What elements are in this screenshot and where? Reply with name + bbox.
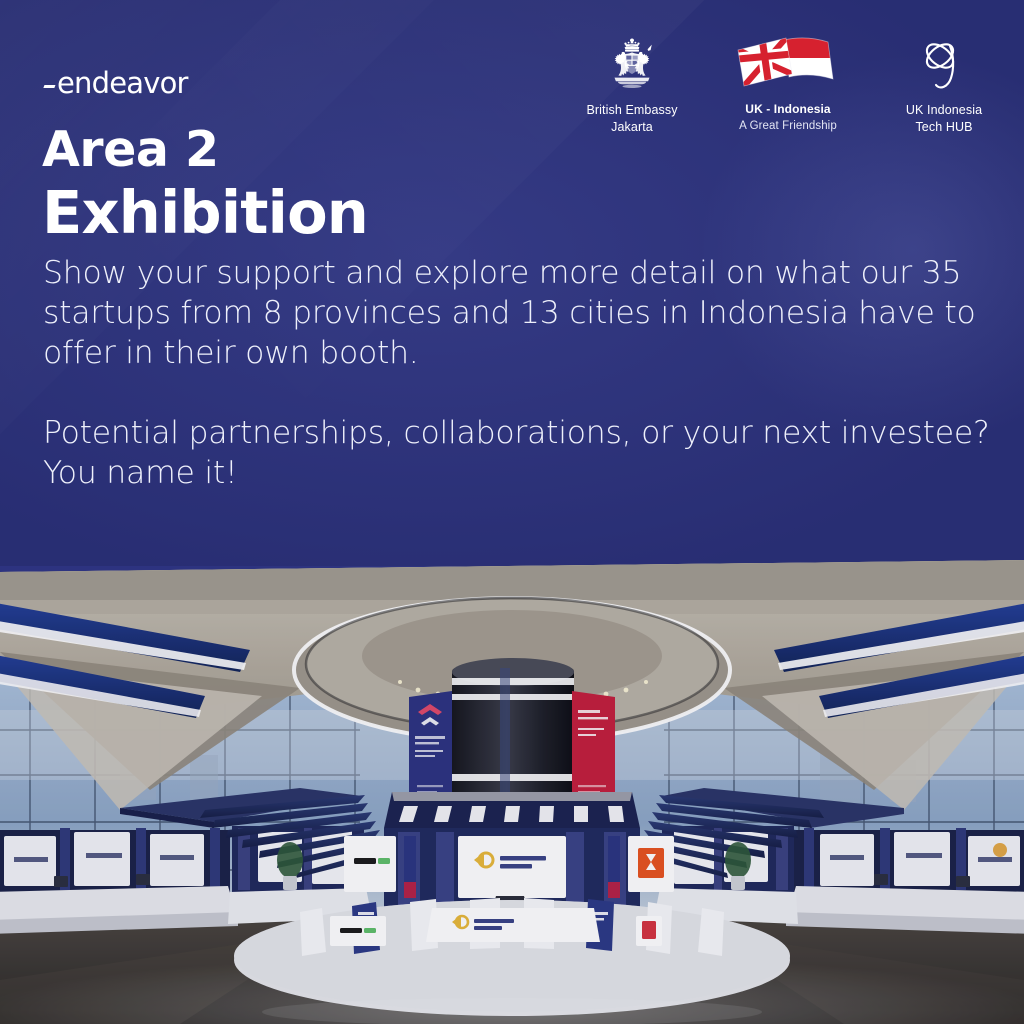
partner-caption: UK - Indonesia A Great Friendship bbox=[739, 102, 837, 134]
partner-caption-line1: UK Indonesia bbox=[906, 103, 982, 117]
uk-indonesia-crossed-flags-icon bbox=[732, 34, 844, 96]
exhibition-hall-photo bbox=[0, 560, 1024, 1024]
body-paragraph-1: Show your support and explore more detai… bbox=[43, 253, 998, 373]
exhibition-slide: endeavor bbox=[0, 0, 1024, 1024]
partner-logos: British Embassy Jakarta bbox=[568, 34, 1008, 135]
body-copy: Show your support and explore more detai… bbox=[43, 253, 998, 493]
partner-british-embassy-jakarta: British Embassy Jakarta bbox=[568, 34, 696, 135]
partner-uk-indonesia-tech-hub: UK Indonesia Tech HUB bbox=[880, 34, 1008, 135]
endeavor-slash-icon bbox=[44, 85, 56, 88]
endeavor-logo: endeavor bbox=[44, 66, 188, 100]
partner-caption: UK Indonesia Tech HUB bbox=[906, 102, 982, 135]
partner-caption-line1: UK - Indonesia bbox=[745, 102, 830, 116]
royal-coat-of-arms-icon bbox=[601, 34, 663, 96]
page-title: Exhibition bbox=[42, 183, 368, 242]
endeavor-logo-text: endeavor bbox=[57, 66, 188, 100]
body-paragraph-2: Potential partnerships, collaborations, … bbox=[43, 413, 998, 493]
partner-caption-line2: A Great Friendship bbox=[739, 119, 837, 134]
partner-caption-line2: Tech HUB bbox=[915, 120, 972, 134]
tech-hub-knot-icon bbox=[914, 34, 974, 96]
partner-caption-line1: British Embassy bbox=[586, 103, 677, 117]
partner-uk-indonesia: UK - Indonesia A Great Friendship bbox=[724, 34, 852, 134]
page-kicker: Area 2 bbox=[42, 125, 219, 174]
partner-caption: British Embassy Jakarta bbox=[586, 102, 677, 135]
partner-caption-line2: Jakarta bbox=[611, 120, 653, 134]
exhibition-hall-illustration bbox=[0, 560, 1024, 1024]
